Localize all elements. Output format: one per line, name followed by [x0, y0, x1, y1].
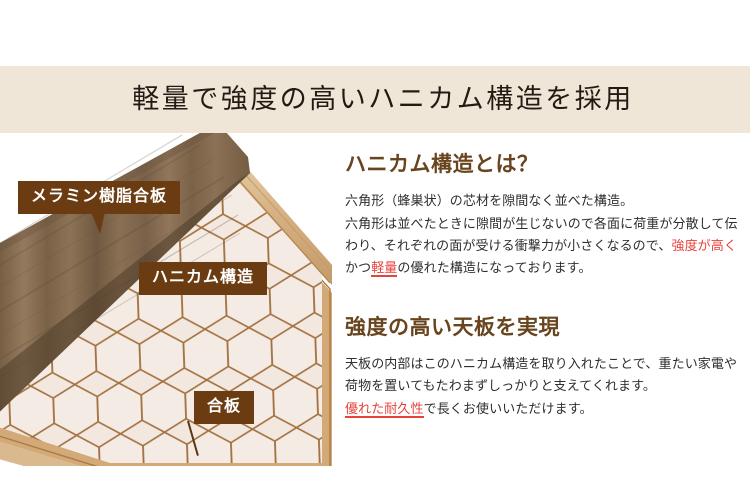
section-strong-tabletop: 強度の高い天板を実現 天板の内部はこのハニカム構造を取り入れたことで、重たい家電…	[345, 315, 743, 420]
body2-line-2: で長くお使いいただけます。	[424, 401, 593, 416]
highlight-lightweight: 軽量	[371, 260, 397, 277]
page-title: 軽量で強度の高いハニカム構造を採用	[0, 66, 750, 133]
callout-honeycomb-structure: ハニカム構造	[139, 262, 267, 295]
title-banner: 軽量で強度の高いハニカム構造を採用	[0, 66, 750, 133]
section-body-tabletop: 天板の内部はこのハニカム構造を取り入れたことで、重たい家電や荷物を置いてもたわま…	[345, 353, 743, 420]
body-line-1: 六角形（蜂巣状）の芯材を隙間なく並べた構造。	[345, 193, 633, 208]
infographic-page: 軽量で強度の高いハニカム構造を採用	[0, 0, 750, 480]
body-line-2b: かつ	[345, 260, 371, 275]
section-heading-honeycomb: ハニカム構造とは？	[345, 152, 743, 177]
section-body-honeycomb: 六角形（蜂巣状）の芯材を隙間なく並べた構造。 六角形は並べたときに隙間が生じない…	[345, 190, 743, 279]
callout-tail-melamine	[91, 212, 105, 234]
body-line-2c: の優れた構造になっております。	[397, 260, 591, 275]
section-what-is-honeycomb: ハニカム構造とは？ 六角形（蜂巣状）の芯材を隙間なく並べた構造。 六角形は並べた…	[345, 152, 743, 280]
highlight-durability: 優れた耐久性	[345, 401, 424, 418]
callout-melamine-resin-plywood: メラミン樹脂合板	[18, 181, 180, 214]
callout-plywood: 合板	[194, 391, 254, 424]
text-column: ハニカム構造とは？ 六角形（蜂巣状）の芯材を隙間なく並べた構造。 六角形は並べた…	[345, 152, 743, 420]
highlight-strength: 強度が高く	[671, 238, 737, 253]
section-heading-tabletop: 強度の高い天板を実現	[345, 315, 743, 340]
body2-line-1: 天板の内部はこのハニカム構造を取り入れたことで、重たい家電や荷物を置いてもたわま…	[345, 356, 737, 393]
